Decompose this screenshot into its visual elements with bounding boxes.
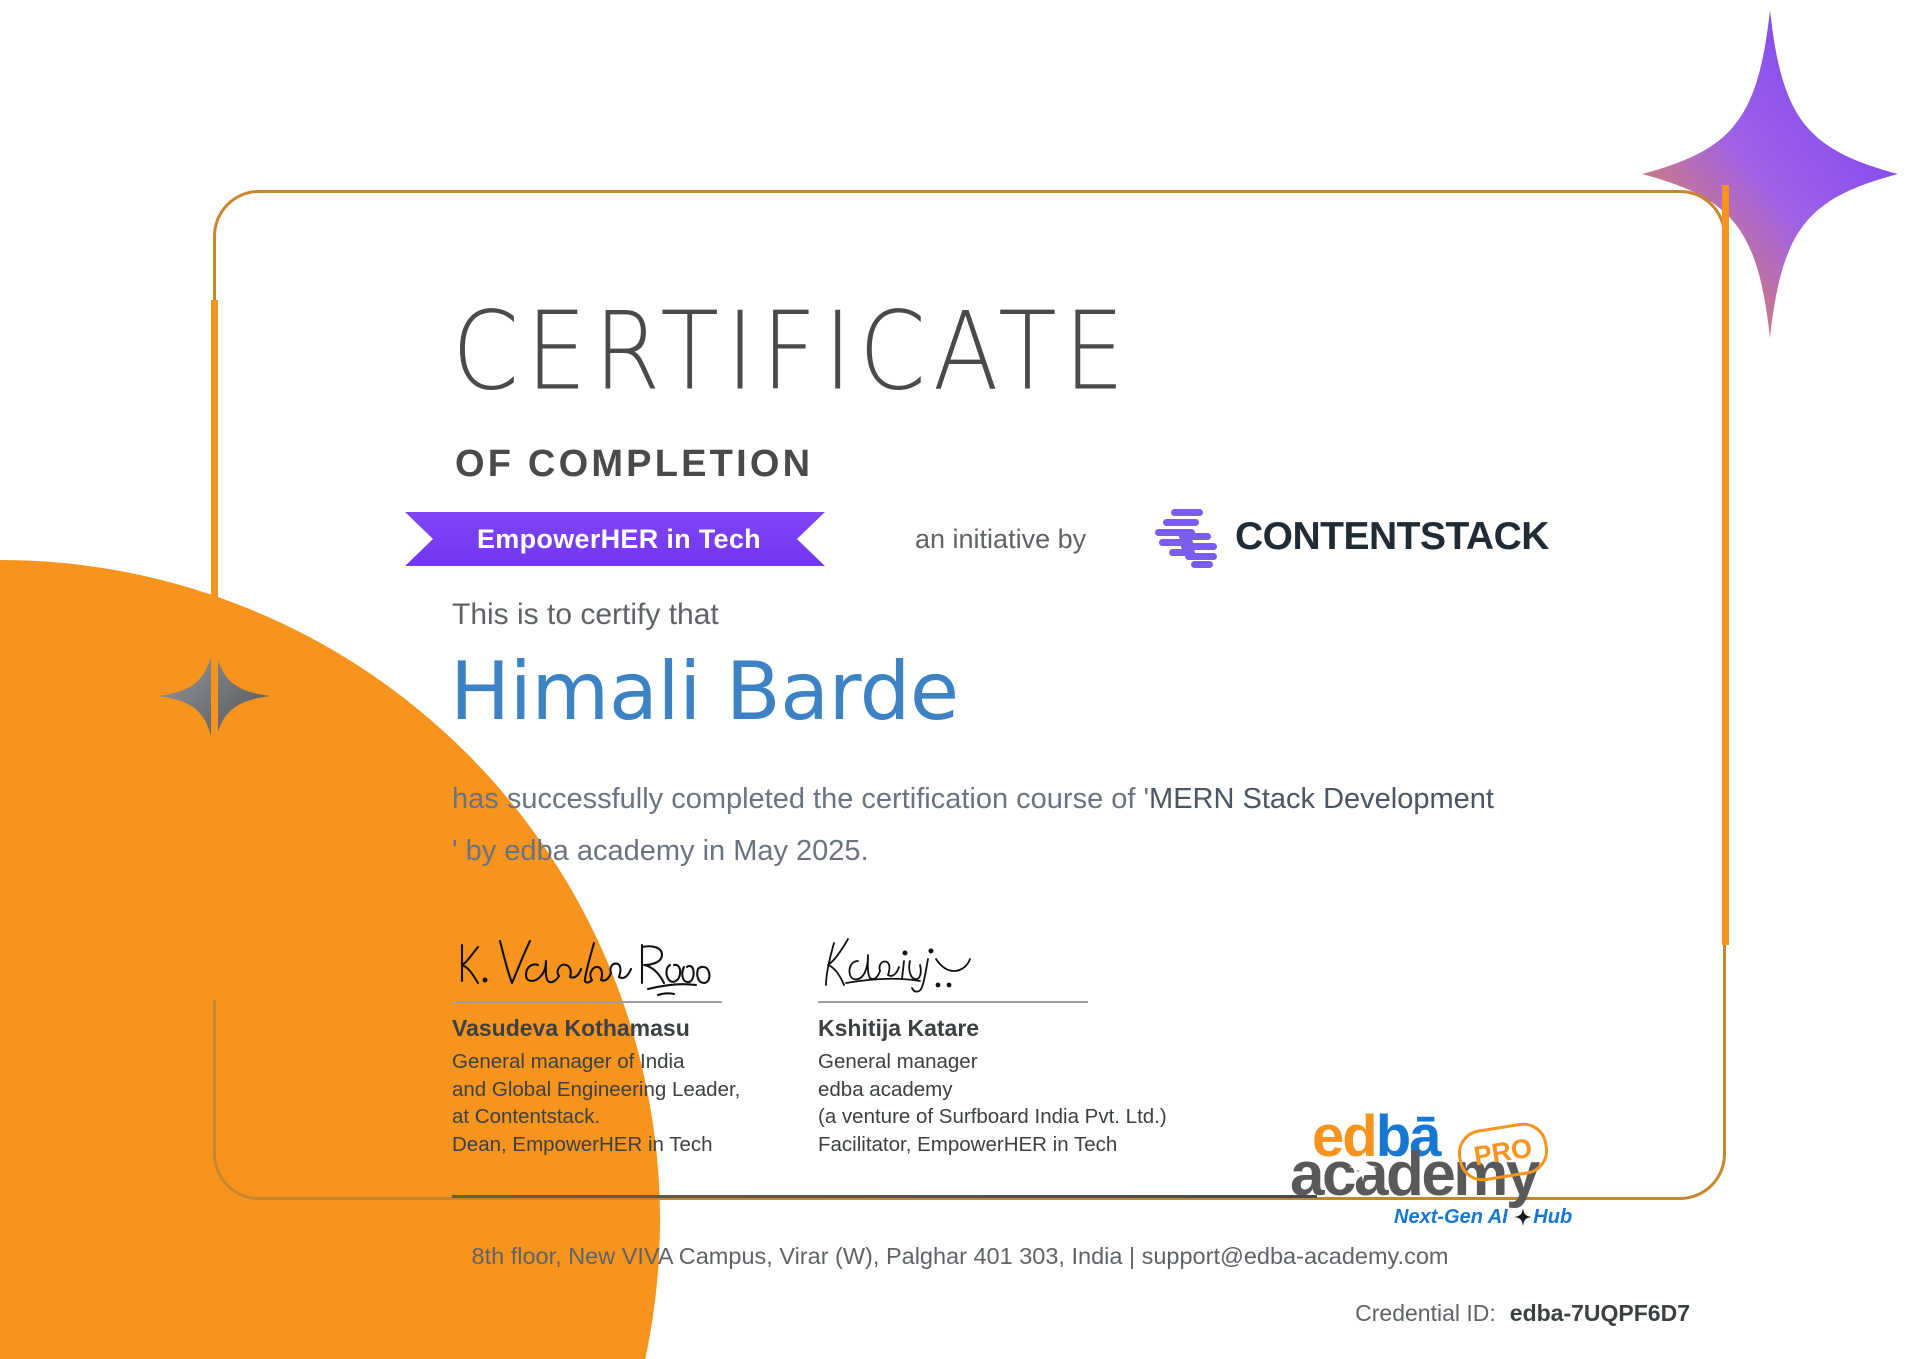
edba-tagline-sparkle-icon: [1513, 1208, 1533, 1226]
contentstack-mark-icon: [1155, 509, 1217, 565]
signatory-role-2: General manager edba academy (a venture …: [818, 1048, 1167, 1158]
edba-tagline: Next-Gen AI Hub: [1394, 1206, 1572, 1229]
edba-tagline-right: Hub: [1533, 1206, 1572, 1228]
certificate-subtitle: OF COMPLETION: [455, 443, 813, 486]
statement-suffix: ' by edba academy in May 2025.: [452, 835, 869, 867]
statement-prefix: has successfully completed the certifica…: [452, 783, 1149, 815]
edba-academy-logo: edbā academy PRO Next-Gen AI Hub: [1290, 1108, 1560, 1228]
certify-line: This is to certify that: [452, 598, 719, 632]
signature-image-2: [818, 935, 1167, 997]
course-name: MERN Stack Development: [1149, 783, 1494, 815]
completion-statement: has successfully completed the certifica…: [452, 773, 1582, 877]
footer-address: 8th floor, New VIVA Campus, Virar (W), P…: [0, 1243, 1920, 1270]
signatory-name-1: Vasudeva Kothamasu: [452, 1015, 740, 1042]
signatory-name-2: Kshitija Katare: [818, 1015, 1167, 1042]
signature-block-1: Vasudeva Kothamasu General manager of In…: [452, 935, 740, 1158]
signature-block-2: Kshitija Katare General manager edba aca…: [818, 935, 1167, 1158]
credential-label: Credential ID:: [1355, 1300, 1496, 1326]
credential-id: edba-7UQPF6D7: [1510, 1300, 1690, 1326]
credential-row: Credential ID:edba-7UQPF6D7: [0, 1300, 1920, 1327]
certificate-title: CERTIFICATE: [452, 298, 1131, 406]
contentstack-logo: CONTENTSTACK: [1155, 509, 1549, 565]
certificate-content: CERTIFICATE OF COMPLETION EmpowerHER in …: [0, 0, 1920, 1359]
recipient-name: Himali Barde: [450, 645, 959, 738]
program-badge: EmpowerHER in Tech: [405, 512, 825, 566]
edba-sparkle-icon: [1348, 1152, 1378, 1187]
edba-pro-label: PRO: [1472, 1132, 1535, 1172]
initiative-text: an initiative by: [915, 524, 1086, 555]
edba-tagline-left: Next-Gen AI: [1394, 1206, 1508, 1228]
signatory-role-1: General manager of India and Global Engi…: [452, 1048, 740, 1158]
program-badge-label: EmpowerHER in Tech: [405, 512, 825, 566]
signature-rule-1: [452, 1001, 722, 1003]
footer-divider: [452, 1195, 1317, 1198]
contentstack-wordmark: CONTENTSTACK: [1235, 515, 1549, 559]
signature-image-1: [452, 935, 740, 997]
signature-rule-2: [818, 1001, 1088, 1003]
